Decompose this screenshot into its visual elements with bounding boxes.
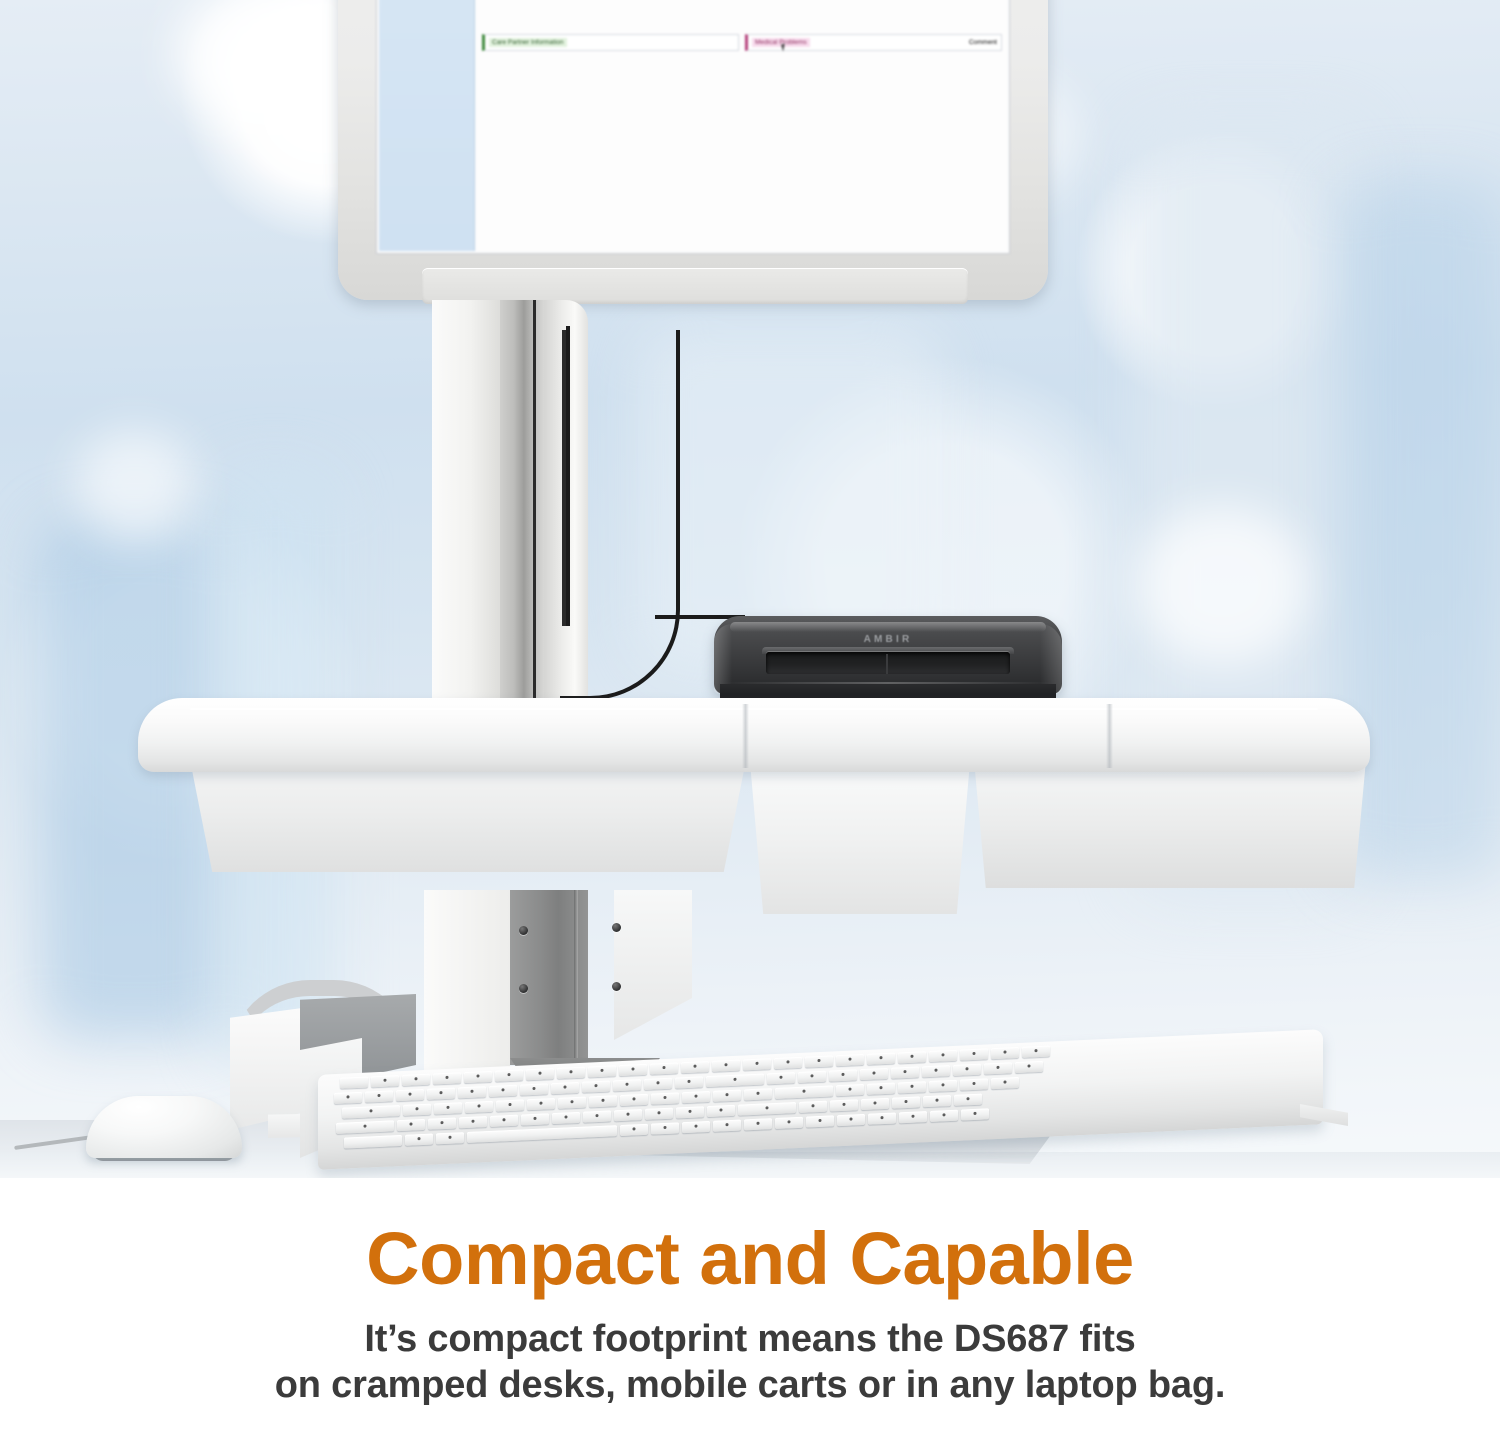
caption-block: Compact and Capable It’s compact footpri… — [0, 1178, 1500, 1452]
bokeh-highlight — [75, 430, 195, 540]
scanner-slot-divider — [886, 654, 888, 674]
mount-hole-icon — [612, 923, 621, 932]
column-seam — [533, 300, 536, 725]
cart-drawer-center — [750, 762, 970, 914]
cart-work-surface — [138, 698, 1370, 898]
emr-screen: Search Medications Fall precautions Care… — [376, 0, 1010, 254]
emr-main-pane: Order Information sodium chloride 0.9% (… — [477, 0, 1007, 251]
product-photo: Search Medications Fall precautions Care… — [0, 0, 1500, 1178]
subhead-line-2: on cramped desks, mobile carts or in any… — [0, 1362, 1500, 1408]
subhead-line-1: It’s compact footprint means the DS687 f… — [0, 1316, 1500, 1362]
mount-hole-icon — [519, 984, 528, 993]
scanner-top-highlight — [730, 622, 1046, 632]
scanner-feed-slot — [766, 652, 1010, 674]
panel-title: Care Partner Information — [489, 38, 567, 47]
ambir-document-scanner: AMBIR — [714, 612, 1062, 710]
surface-seam — [742, 704, 749, 768]
cart-drawer-left — [190, 760, 746, 872]
column-rail — [500, 300, 546, 725]
mouse-body — [86, 1096, 242, 1158]
headline: Compact and Capable — [0, 1220, 1500, 1298]
emr-sidebar: Search Medications Fall precautions Care… — [379, 0, 475, 251]
mount-hole-icon — [612, 982, 621, 991]
mount-hole-icon — [519, 926, 528, 935]
computer-mouse — [86, 1096, 242, 1166]
cart-drawer-right — [974, 760, 1366, 888]
collapsed-panel-strip: Care Partner Information Medical Problem… — [482, 34, 1002, 51]
comment-link[interactable]: Comment — [969, 39, 997, 46]
surface-seam — [1106, 704, 1113, 768]
cart-monitor: Search Medications Fall precautions Care… — [338, 0, 1048, 300]
column-front-panel — [432, 300, 502, 725]
lower-column-right-panel — [614, 890, 692, 1040]
surface-top — [138, 698, 1370, 772]
surface-edge-line — [190, 708, 1318, 710]
bokeh-highlight — [1135, 505, 1310, 665]
marketing-slide: Search Medications Fall precautions Care… — [0, 0, 1500, 1452]
panel-care-partner-information[interactable]: Care Partner Information — [482, 34, 739, 51]
keyboard-tray — [300, 1030, 1340, 1175]
ambir-logo: AMBIR — [714, 634, 1062, 645]
monitor-chin-handle — [422, 268, 968, 304]
